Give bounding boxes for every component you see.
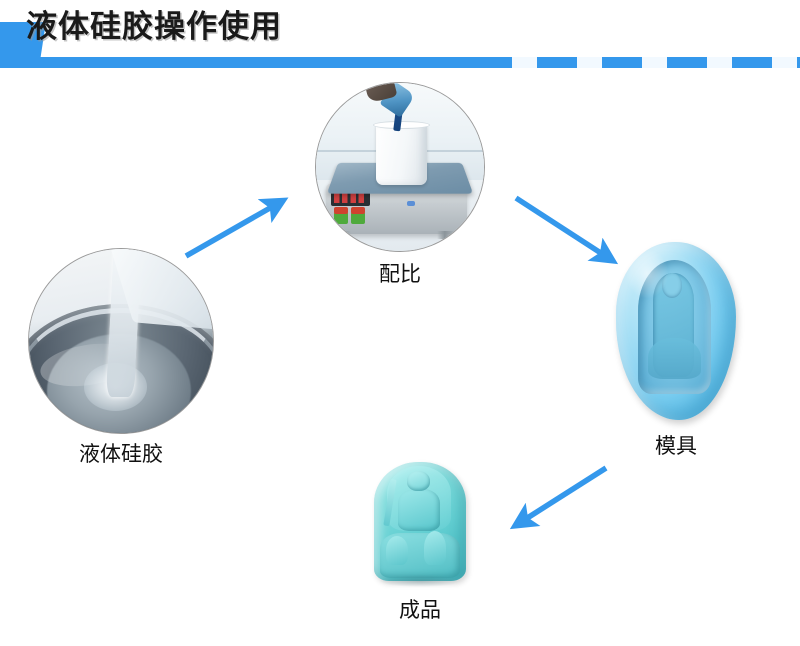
flow-node-ratio: 配比: [305, 82, 495, 252]
flow-node-label-mold: 模具: [600, 432, 752, 460]
page-title: 液体硅胶操作使用: [26, 6, 282, 48]
flow-node-mold: 模具: [600, 238, 752, 424]
flow-node-product: 成品: [340, 458, 500, 588]
header-bar-dashed: [472, 57, 800, 68]
arrow-mold-to-product: [521, 468, 606, 522]
photo-proportioning-scale: [315, 82, 485, 252]
flow-node-label-product: 成品: [340, 596, 500, 624]
photo-silicone-mold: [613, 238, 739, 424]
photo-liquid-silicone: [28, 248, 214, 434]
flow-node-silicone: 液体硅胶: [18, 248, 224, 434]
slide-page: 液体硅胶操作使用 液体硅胶: [0, 0, 800, 646]
header-bar-solid: [0, 57, 472, 68]
flow-node-label-ratio: 配比: [305, 260, 495, 288]
photo-finished-figurine: [365, 458, 475, 588]
flow-node-label-silicone: 液体硅胶: [18, 440, 224, 468]
page-header: 液体硅胶操作使用: [0, 0, 800, 72]
arrow-ratio-to-mold: [516, 198, 607, 257]
